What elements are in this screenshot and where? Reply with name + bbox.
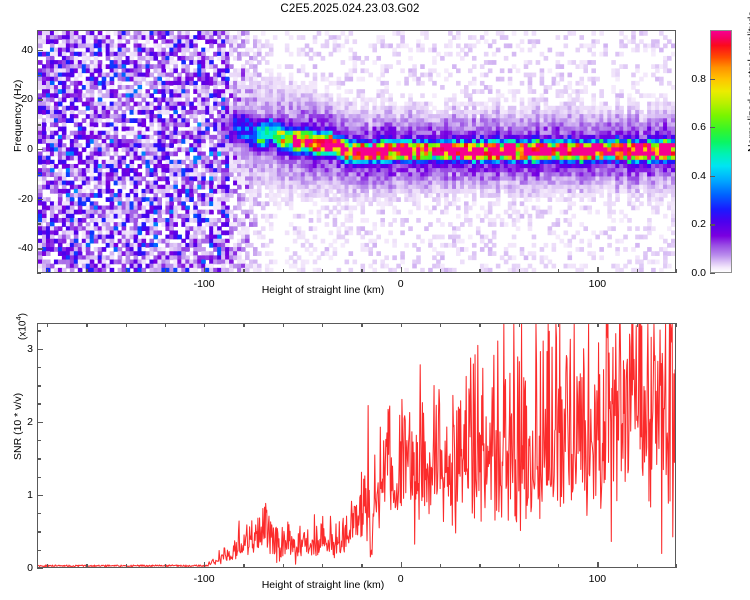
snr-ytick-minor (37, 403, 41, 404)
spectrogram-yticklabel: 40 (1, 44, 33, 56)
spectrogram-xticklabel: 0 (398, 278, 404, 290)
spectrogram-xtick-minor (479, 269, 480, 273)
snr-ytick-minor (37, 367, 41, 368)
snr-xtick-minor (243, 564, 244, 568)
snr-xtick-minor (361, 564, 362, 568)
snr-xtick-top (243, 323, 244, 327)
snr-xtick-minor (86, 564, 87, 568)
snr-ytick-minor (37, 513, 41, 514)
snr-xtick-minor (479, 564, 480, 568)
spectrogram-xtick-minor (440, 269, 441, 273)
snr-xtick-top (322, 323, 323, 327)
spectrogram-ytick-minor (37, 273, 41, 274)
colorbar-ticklabel: 0.6 (674, 121, 706, 133)
snr-xtick-top (558, 323, 559, 327)
spectrogram-ytick (37, 199, 43, 200)
snr-xtick-minor (519, 564, 520, 568)
snr-ytick-minor (37, 531, 41, 532)
spectrogram-yticklabel: -40 (1, 242, 33, 254)
spectrogram-xtick (597, 267, 598, 273)
spectrogram-xtick-minor (283, 269, 284, 273)
spectrogram-ytick (37, 50, 43, 51)
snr-ytick-minor (37, 458, 41, 459)
colorbar-ticklabel: 0.0 (674, 267, 706, 279)
snr-trace (38, 324, 675, 567)
snr-ytick (37, 568, 43, 569)
spectrogram-ytick-minor (37, 75, 41, 76)
figure-canvas: C2E5.2025.024.23.03.G02 -100 0 100 -40 -… (0, 0, 750, 600)
snr-xtick-top (597, 323, 598, 327)
spectrogram-xtick-minor (47, 269, 48, 273)
figure-title: C2E5.2025.024.23.03.G02 (0, 3, 700, 15)
snr-xtick (204, 562, 205, 568)
snr-ytick (37, 495, 43, 496)
spectrogram-xtick (204, 267, 205, 273)
snr-ytick-minor (37, 477, 41, 478)
spectrogram-x-axis-title: Height of straight line (km) (262, 284, 385, 296)
spectrogram-ytick (37, 248, 43, 249)
snr-xtick-minor (637, 564, 638, 568)
spectrogram-xtick-minor (519, 269, 520, 273)
spectrogram-ytick (37, 99, 43, 100)
snr-xtick-minor (126, 564, 127, 568)
spectrogram-panel (37, 30, 676, 273)
snr-ytick-minor (37, 330, 41, 331)
spectrogram-ytick-minor (37, 124, 41, 125)
spectrogram-ytick-minor (37, 223, 41, 224)
snr-panel (37, 323, 676, 568)
snr-xtick-minor (165, 564, 166, 568)
spectrogram-ytick-minor (37, 174, 41, 175)
spectrogram-xtick-minor (126, 269, 127, 273)
spectrogram-xticklabel: -100 (194, 278, 215, 290)
snr-xtick (401, 562, 402, 568)
colorbar-ticklabel: 0.4 (674, 170, 706, 182)
spectrogram-xtick-minor (361, 269, 362, 273)
snr-xtick-minor (322, 564, 323, 568)
snr-xtick-top (401, 323, 402, 327)
snr-xtick (597, 562, 598, 568)
spectrogram-xtick (401, 267, 402, 273)
colorbar-tick (710, 127, 715, 128)
snr-xtick-top (86, 323, 87, 327)
snr-xtick-minor (47, 564, 48, 568)
colorbar-tick (710, 224, 715, 225)
spectrogram-xtick-minor (165, 269, 166, 273)
snr-y-axis-title: SNR (10 * v/v) (12, 393, 24, 460)
spectrogram-xtick-minor (637, 269, 638, 273)
snr-xtick-top (440, 323, 441, 327)
snr-xtick-top (519, 323, 520, 327)
snr-ytick-minor (37, 385, 41, 386)
snr-xtick-minor (440, 564, 441, 568)
colorbar-tick (710, 176, 715, 177)
spectrogram-xtick-minor (243, 269, 244, 273)
snr-xtick-top (637, 323, 638, 327)
snr-xtick-top (361, 323, 362, 327)
snr-xticklabel: 0 (398, 573, 404, 585)
snr-x-axis-title: Height of straight line (km) (262, 579, 385, 591)
spectrogram-yticklabel: -20 (1, 193, 33, 205)
colorbar-ticklabel: 0.8 (674, 73, 706, 85)
colorbar-tick (710, 79, 715, 80)
snr-xtick-minor (558, 564, 559, 568)
snr-xtick-minor (283, 564, 284, 568)
spectrogram-xtick-minor (86, 269, 87, 273)
snr-xtick-top (283, 323, 284, 327)
snr-yticklabel: 0 (3, 562, 33, 574)
spectrogram-image (38, 31, 675, 272)
snr-xtick-top (204, 323, 205, 327)
snr-xtick-top (165, 323, 166, 327)
snr-yticklabel: 1 (3, 489, 33, 501)
colorbar (710, 30, 732, 273)
snr-yticklabel: 3 (3, 343, 33, 355)
snr-xticklabel: -100 (194, 573, 215, 585)
spectrogram-xticklabel: 100 (589, 278, 607, 290)
spectrogram-y-axis-title: Frequency (Hz) (12, 80, 24, 152)
snr-xtick-top (47, 323, 48, 327)
snr-ytick-minor (37, 550, 41, 551)
spectrogram-xtick-minor (322, 269, 323, 273)
spectrogram-ytick (37, 149, 43, 150)
spectrogram-ytick-minor (37, 30, 41, 31)
snr-xtick-top (126, 323, 127, 327)
spectrogram-xtick-minor (558, 269, 559, 273)
colorbar-gradient (710, 30, 732, 273)
colorbar-ticklabel: 0.2 (674, 218, 706, 230)
snr-xtick-top (676, 323, 677, 327)
colorbar-tick (710, 273, 715, 274)
snr-xtick-top (479, 323, 480, 327)
snr-ytick (37, 349, 43, 350)
snr-ytick-minor (37, 440, 41, 441)
snr-xticklabel: 100 (589, 573, 607, 585)
snr-ytick (37, 422, 43, 423)
snr-y-axis-multiplier: (x104) (14, 313, 28, 340)
snr-xtick-minor (676, 564, 677, 568)
colorbar-title: Normalized spectral amplitude (746, 11, 750, 152)
